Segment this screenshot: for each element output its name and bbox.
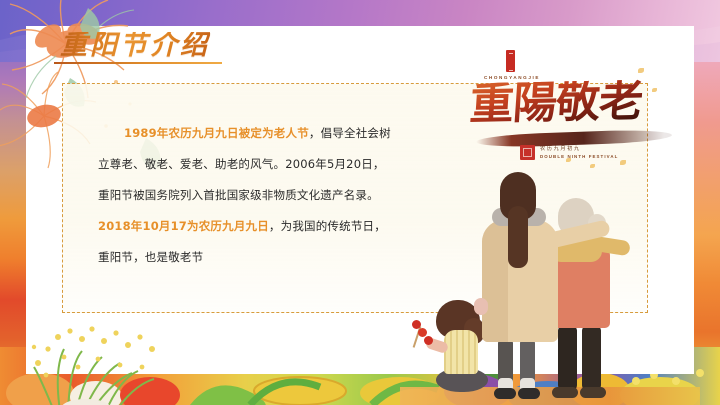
body-line-3: 重阳节被国务院列入首批国家级非物质文化遗产名录。 [98, 180, 450, 211]
elder-leg-right [582, 325, 601, 391]
petal-icon [652, 88, 657, 92]
elder-leg-left [558, 325, 577, 391]
title-underline [54, 62, 222, 64]
family-illustration [400, 150, 700, 405]
woman-coat-shadow [482, 220, 508, 342]
woman-shoe-left [494, 388, 516, 399]
page-title-text: 重阳节介绍 [60, 32, 210, 60]
body-line-4-normal: ，为我国的传统节日， [269, 219, 386, 233]
woman-ponytail [508, 206, 528, 268]
page-title: 重阳节介绍 [60, 32, 210, 60]
body-line-1: 1989年农历九月九日被定为老人节，倡导全社会树 [98, 118, 450, 149]
calligraphy-main-text: 重陽敬老 [468, 79, 681, 127]
slide-canvas: 重阳节介绍 1989年农历九月九日被定为老人节，倡导全社会树 立尊老、敬老、爱老… [0, 0, 720, 405]
woman-hand [474, 298, 488, 315]
woman-shoe-right [518, 388, 540, 399]
petal-icon [638, 68, 644, 73]
body-line-4: 2018年10月17为农历九月九日，为我国的传统节日， [98, 211, 450, 242]
body-line-1-highlight: 1989年农历九月九日被定为老人节 [124, 126, 309, 140]
body-line-5: 重阳节，也是敬老节 [98, 242, 450, 273]
top-seal-icon [506, 50, 515, 72]
body-line-1-normal: ，倡导全社会树 [309, 126, 391, 140]
body-line-2: 立尊老、敬老、爱老、助老的风气。2006年5月20日， [98, 149, 450, 180]
elder-shoe-left [552, 387, 578, 398]
child-shirt-stripes [444, 330, 478, 374]
elder-shoe-right [580, 387, 606, 398]
body-line-4-highlight: 2018年10月17为农历九月九日 [98, 219, 269, 233]
body-text-block: 1989年农历九月九日被定为老人节，倡导全社会树 立尊老、敬老、爱老、助老的风气… [98, 118, 450, 273]
candied-haw-icon [424, 336, 433, 345]
